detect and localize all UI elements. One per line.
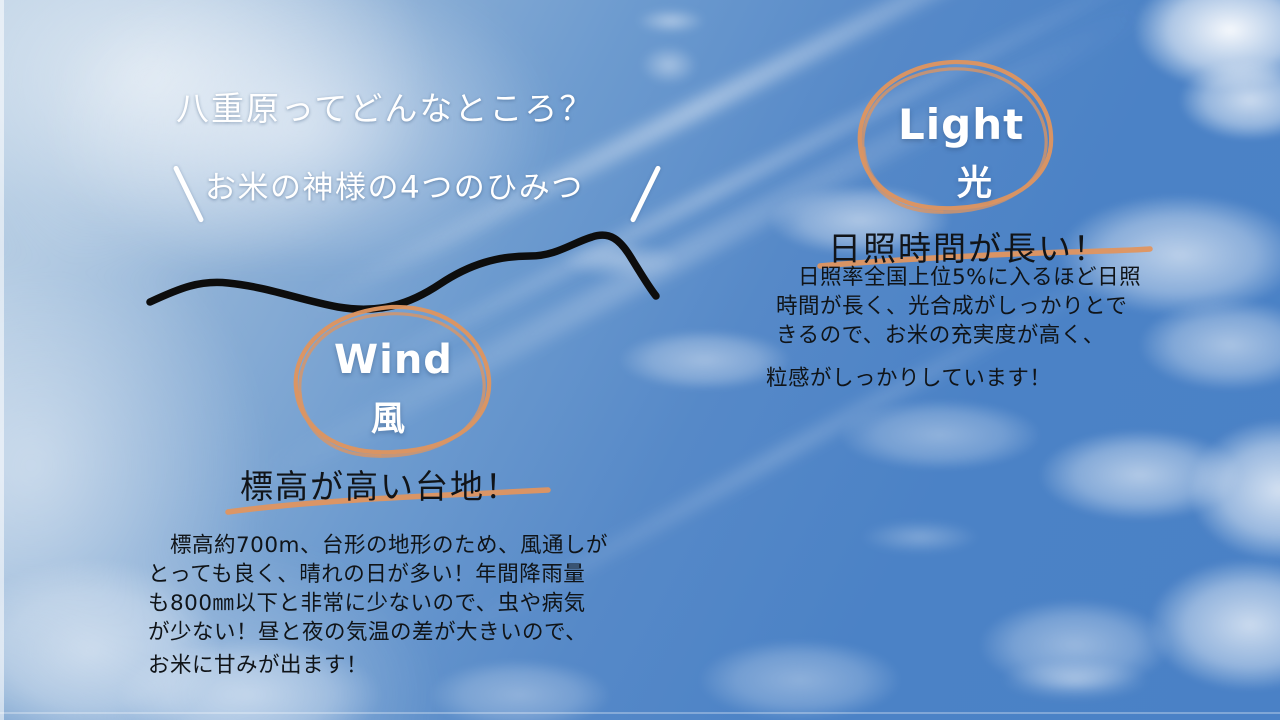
section-body-light: 日照率全国上位5%に入るほど日照 時間が長く、光合成がしっかりとで きるので、お… (776, 263, 1141, 350)
page-title: 八重原ってどんなところ？ (176, 82, 594, 130)
badge-label-jp-wind: 風 (371, 391, 405, 440)
section-heading-wind: 標高が高い台地！ (240, 460, 520, 508)
section-body-wind: 標高約700m、台形の地形のため、風通しが とっても良く、晴れの日が多い！年間降… (148, 531, 608, 647)
section-body-tail-wind: お米に甘みが出ます！ (148, 648, 368, 679)
cloud-wisp (640, 45, 698, 85)
badge-label-en-light: Light (898, 100, 1024, 149)
cloud-wisp (636, 8, 706, 34)
slide-left-edge (0, 0, 4, 720)
cloud-wisp (860, 520, 980, 554)
section-body-tail-light: 粒感がしっかりしています！ (766, 361, 1051, 392)
badge-label-jp-light: 光 (957, 155, 992, 206)
page-subtitle: お米の神様の4つのひみつ (205, 162, 584, 207)
cloud-wisp (560, 240, 680, 280)
slide-bottom-edge (0, 712, 1280, 714)
cloud-wisp (1000, 660, 1150, 700)
slide-canvas: 八重原ってどんなところ？ お米の神様の4つのひみつ Wind 風 標高が高い台地… (0, 0, 1280, 720)
badge-label-en-wind: Wind (334, 337, 453, 383)
